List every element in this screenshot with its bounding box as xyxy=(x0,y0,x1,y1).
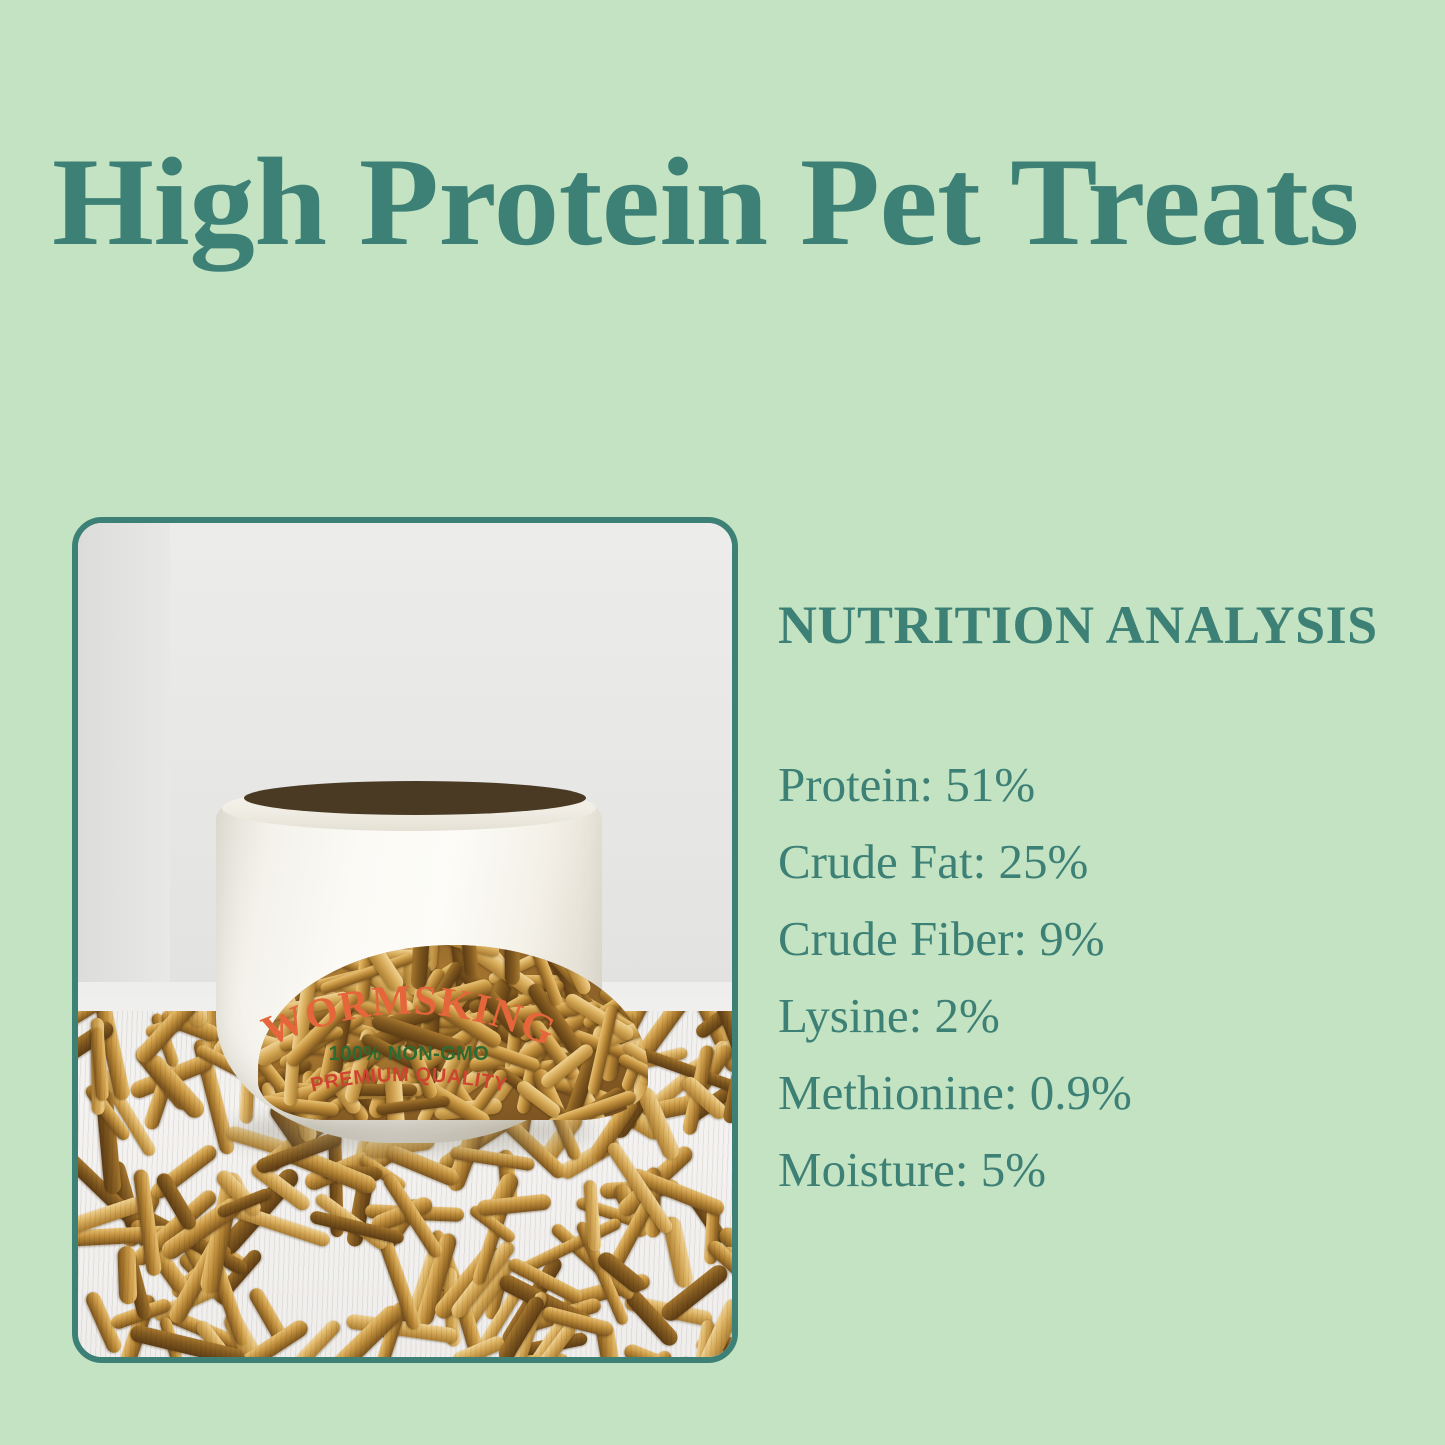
nutrition-item: Crude Fiber: 9% xyxy=(778,900,1398,977)
nutrition-heading: NUTRITION ANALYSIS xyxy=(778,596,1398,654)
infographic-page: High Protein Pet Treats xyxy=(0,0,1445,1445)
nutrition-item: Moisture: 5% xyxy=(778,1131,1398,1208)
nutrition-item: Protein: 51% xyxy=(778,746,1398,823)
photo-wall-corner-shade xyxy=(78,523,170,990)
page-title: High Protein Pet Treats xyxy=(52,138,1445,268)
nutrition-item: Crude Fat: 25% xyxy=(778,823,1398,900)
nutrition-list: Protein: 51%Crude Fat: 25%Crude Fiber: 9… xyxy=(778,746,1398,1208)
product-photo-frame: WORMSKING 100% NON-GMO PREMIUM QUALITY xyxy=(72,517,738,1363)
mealworm xyxy=(476,1193,551,1216)
product-photo: WORMSKING 100% NON-GMO PREMIUM QUALITY xyxy=(78,523,732,1357)
nutrition-analysis-panel: NUTRITION ANALYSIS Protein: 51%Crude Fat… xyxy=(778,596,1398,1208)
nutrition-item: Methionine: 0.9% xyxy=(778,1054,1398,1131)
mealworm xyxy=(504,945,520,985)
nutrition-item: Lysine: 2% xyxy=(778,977,1398,1054)
bowl-rim xyxy=(222,785,596,831)
bowl-rim-interior xyxy=(244,781,586,815)
mealworm xyxy=(117,1246,138,1305)
ceramic-bowl: WORMSKING 100% NON-GMO PREMIUM QUALITY xyxy=(216,795,602,1143)
